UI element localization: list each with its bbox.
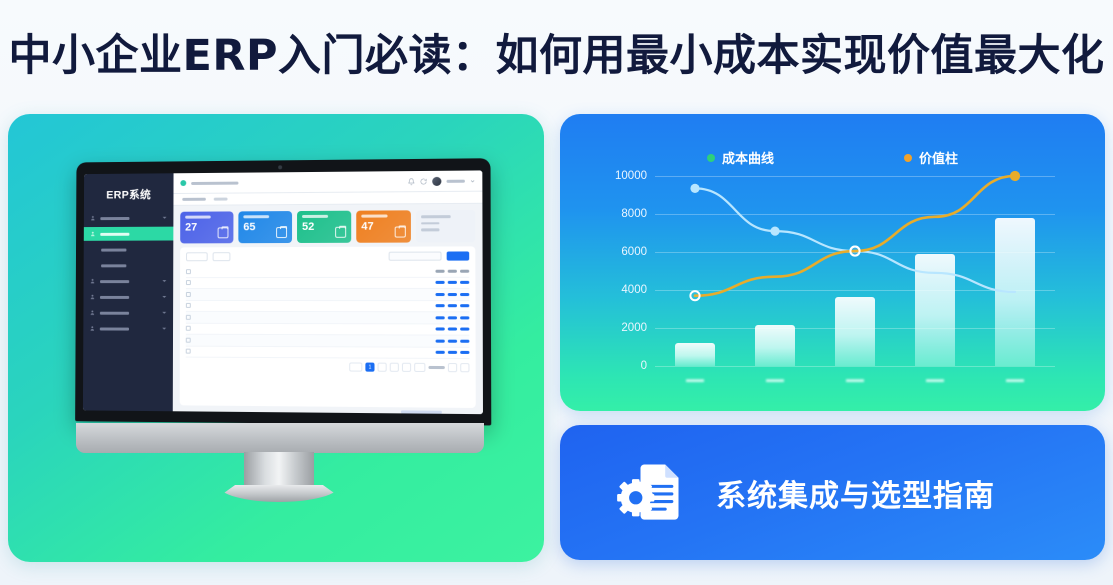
banner-label: 系统集成与选型指南 (716, 471, 995, 515)
row-actions[interactable] (436, 316, 470, 319)
page-next-button[interactable] (414, 363, 425, 372)
row-checkbox[interactable] (186, 326, 191, 331)
legend-label-value: 价值柱 (919, 148, 958, 167)
row-checkbox[interactable] (186, 269, 191, 274)
sidebar-item-6[interactable] (83, 306, 173, 320)
y-axis-tick: 10000 (615, 170, 647, 182)
nav-icon (90, 278, 96, 284)
table-header-row (186, 266, 469, 278)
breadcrumb (191, 181, 238, 184)
y-axis-tick: 4000 (621, 284, 647, 296)
x-axis-tick: ▬▬ (686, 374, 704, 384)
chart-line-series (655, 176, 1055, 366)
row-action-view[interactable] (435, 269, 444, 272)
nav-icon (91, 215, 97, 221)
title-bar: 中小企业ERP入门必读：如何用最小成本实现价值最大化 (0, 0, 1113, 104)
chevron-down-icon (162, 312, 166, 314)
row-actions[interactable] (436, 339, 470, 342)
row-checkbox[interactable] (186, 349, 191, 354)
pagination: 1 (186, 358, 470, 373)
row-actions[interactable] (435, 293, 469, 296)
row-action-delete[interactable] (460, 328, 469, 331)
row-action-view[interactable] (436, 328, 445, 331)
y-axis-tick: 6000 (621, 246, 647, 258)
sidebar-item-3[interactable] (84, 258, 174, 272)
row-action-edit[interactable] (448, 293, 457, 296)
row-action-delete[interactable] (460, 293, 469, 296)
chevron-down-icon (162, 296, 166, 298)
tab-overview[interactable] (182, 198, 206, 201)
monitor-stand-neck (244, 452, 314, 488)
erp-data-table (186, 266, 470, 359)
row-checkbox[interactable] (186, 292, 191, 297)
row-checkbox[interactable] (186, 315, 191, 320)
sidebar-item-label (100, 232, 129, 235)
nav-icon (90, 294, 96, 300)
row-action-edit[interactable] (448, 304, 457, 307)
erp-table-panel: 1 (180, 246, 476, 408)
page-1-button[interactable]: 1 (365, 363, 374, 372)
filter-button[interactable] (186, 252, 208, 261)
stat-card-label (243, 215, 269, 218)
row-action-view[interactable] (436, 304, 445, 307)
chart-point (690, 184, 699, 193)
guide-banner[interactable]: 系统集成与选型指南 (560, 425, 1105, 560)
page-title: 中小企业ERP入门必读：如何用最小成本实现价值最大化 (9, 21, 1105, 83)
chart-legend: 成本曲线 价值柱 (560, 148, 1105, 167)
chevron-down-icon (162, 280, 166, 282)
chart-point (770, 227, 779, 236)
table-row[interactable] (186, 312, 470, 324)
avatar[interactable] (432, 176, 441, 185)
y-axis-tick: 8000 (621, 208, 647, 220)
row-action-view[interactable] (436, 316, 445, 319)
refresh-icon[interactable] (420, 177, 427, 184)
legend-item-value: 价值柱 (904, 148, 958, 167)
row-action-delete[interactable] (460, 316, 469, 319)
chevron-down-icon (163, 217, 167, 219)
stat-card-icon (276, 227, 287, 238)
desktop-monitor: ERP系统 (72, 160, 488, 485)
erp-topbar (173, 170, 482, 194)
page-3-button[interactable] (390, 363, 399, 372)
page-size-label (428, 366, 444, 369)
row-actions[interactable] (435, 281, 469, 284)
gear-document-icon (612, 455, 688, 531)
nav-icon (90, 310, 96, 316)
sidebar-item-2[interactable] (84, 242, 174, 256)
page-prev-button[interactable] (349, 362, 362, 371)
erp-main-area: 27655247 1 (173, 170, 483, 414)
stat-card-icon (218, 227, 229, 238)
slide-root: 中小企业ERP入门必读：如何用最小成本实现价值最大化 ERP系统 (0, 0, 1113, 585)
row-action-edit[interactable] (448, 316, 457, 319)
stat-card-label (302, 215, 328, 218)
chart-plot-area: 0200040006000800010000 ▬▬▬▬▬▬▬▬▬▬ (655, 176, 1055, 366)
row-action-view[interactable] (436, 351, 445, 354)
nav-icon (90, 326, 96, 332)
nav-icon (91, 231, 97, 237)
row-action-delete[interactable] (460, 351, 469, 354)
page-go-button[interactable] (460, 363, 469, 372)
search-button[interactable] (447, 251, 470, 260)
table-toolbar (186, 251, 469, 261)
stat-card-label (185, 216, 211, 219)
row-action-edit[interactable] (448, 281, 457, 284)
search-input[interactable] (389, 252, 442, 261)
row-action-edit[interactable] (448, 269, 457, 272)
y-axis-tick: 2000 (621, 322, 647, 334)
monitor-bezel: ERP系统 (75, 158, 491, 425)
row-action-delete[interactable] (460, 269, 469, 272)
erp-dashboard-screen: ERP系统 (83, 170, 483, 414)
monitor-stand-base (218, 485, 340, 502)
x-axis-tick: ▬▬ (1006, 374, 1024, 384)
table-row[interactable] (186, 300, 469, 312)
row-action-edit[interactable] (448, 351, 457, 354)
tab-detail[interactable] (214, 198, 228, 201)
row-action-delete[interactable] (460, 281, 469, 284)
erp-stat-cards: 27655247 (173, 204, 482, 248)
row-actions[interactable] (436, 304, 470, 307)
stat-card-4[interactable]: 47 (356, 210, 411, 242)
stat-card-3[interactable]: 52 (297, 211, 351, 243)
stat-card-2[interactable]: 65 (238, 211, 292, 243)
row-action-view[interactable] (436, 339, 445, 342)
webcam-icon (278, 165, 282, 169)
chevron-down-icon (162, 328, 166, 330)
x-axis-tick: ▬▬ (846, 374, 864, 384)
legend-label-cost: 成本曲线 (722, 148, 774, 167)
table-row[interactable] (186, 277, 469, 289)
chart-point (850, 246, 859, 255)
table-row[interactable] (186, 289, 469, 301)
sidebar-item-1[interactable] (84, 227, 174, 241)
sidebar-item-label (101, 248, 126, 251)
monitor-chin (76, 423, 484, 453)
stat-card-icon (395, 226, 406, 237)
row-action-edit[interactable] (448, 339, 457, 342)
username-label (447, 179, 465, 182)
x-axis-tick: ▬▬ (766, 374, 784, 384)
sidebar-item-label (100, 280, 129, 283)
sidebar-item-label (100, 311, 129, 314)
sidebar-item-4[interactable] (84, 274, 174, 288)
sidebar-item-label (100, 295, 129, 298)
table-row[interactable] (186, 323, 470, 335)
row-actions[interactable] (436, 328, 470, 331)
page-4-button[interactable] (402, 363, 411, 372)
stat-summary-panel (416, 210, 475, 243)
row-action-view[interactable] (435, 281, 444, 284)
row-action-delete[interactable] (460, 339, 469, 342)
sidebar-item-label (100, 217, 129, 220)
row-actions[interactable] (435, 269, 469, 272)
erp-logo: ERP系统 (84, 180, 174, 211)
legend-item-cost: 成本曲线 (707, 148, 774, 167)
row-checkbox[interactable] (186, 303, 191, 308)
erp-nav-list (83, 211, 173, 336)
row-action-delete[interactable] (460, 304, 469, 307)
row-checkbox[interactable] (186, 280, 191, 285)
sidebar-item-0[interactable] (84, 211, 174, 225)
chevron-down-icon[interactable] (470, 178, 475, 183)
row-action-edit[interactable] (448, 328, 457, 331)
legend-dot-cost (707, 154, 715, 162)
page-jump-input[interactable] (448, 363, 457, 372)
row-actions[interactable] (436, 351, 470, 354)
stat-card-1[interactable]: 27 (180, 211, 233, 243)
stat-card-icon (335, 227, 346, 238)
erp-sidebar: ERP系统 (83, 173, 174, 411)
chart-point (690, 291, 699, 300)
sidebar-item-label (101, 264, 126, 267)
y-axis-tick: 0 (641, 360, 647, 372)
export-button[interactable] (213, 252, 231, 261)
sidebar-item-7[interactable] (83, 322, 173, 336)
sidebar-item-label (100, 327, 129, 330)
gridline (655, 366, 1055, 367)
breadcrumb-dot-icon (180, 180, 186, 186)
x-axis-tick: ▬▬ (926, 374, 944, 384)
row-checkbox[interactable] (186, 337, 191, 342)
row-action-view[interactable] (435, 293, 444, 296)
legend-dot-value (904, 154, 912, 162)
bell-icon[interactable] (408, 178, 415, 185)
chart-card: 成本曲线 价值柱 0200040006000800010000 ▬▬▬▬▬▬▬▬… (560, 114, 1105, 411)
monitor-showcase-card: ERP系统 (8, 114, 544, 562)
page-2-button[interactable] (378, 363, 387, 372)
sidebar-item-5[interactable] (83, 290, 173, 304)
chart-point (1010, 171, 1019, 180)
stat-card-label (361, 214, 388, 217)
